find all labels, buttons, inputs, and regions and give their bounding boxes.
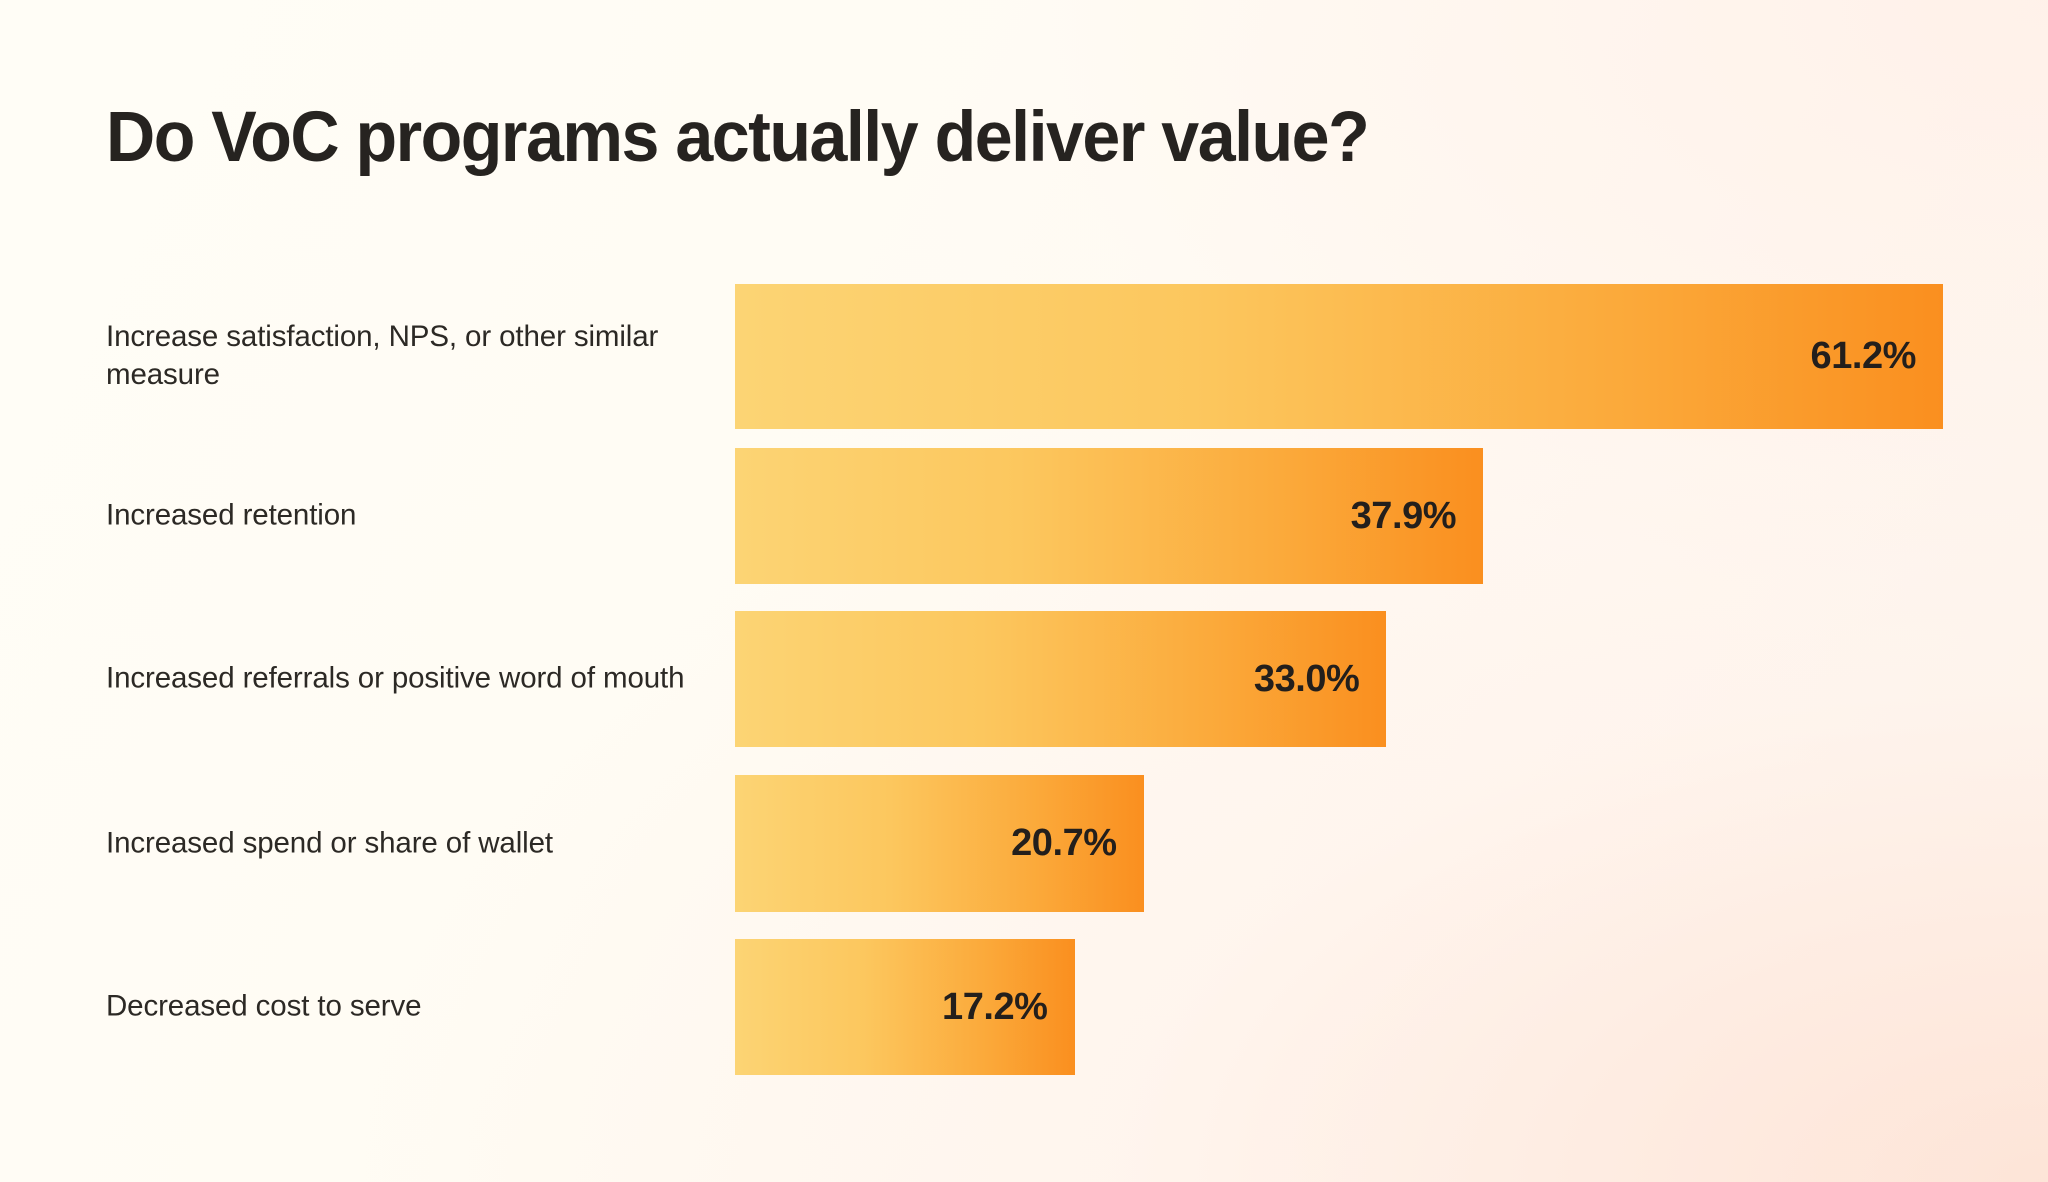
bar-value-label: 33.0% bbox=[1254, 658, 1359, 701]
bar-row: Increased retention37.9% bbox=[0, 448, 2048, 584]
bar-track: 17.2% bbox=[735, 939, 1943, 1075]
bar-value-label: 61.2% bbox=[1811, 335, 1916, 378]
bar-category-label: Decreased cost to serve bbox=[106, 988, 696, 1027]
bar[interactable]: 61.2% bbox=[735, 284, 1943, 429]
bar-track: 33.0% bbox=[735, 611, 1943, 747]
bar-value-label: 20.7% bbox=[1011, 822, 1116, 865]
bar[interactable]: 20.7% bbox=[735, 775, 1144, 912]
bar-track: 20.7% bbox=[735, 775, 1943, 912]
bar[interactable]: 33.0% bbox=[735, 611, 1386, 747]
bar-category-label: Increase satisfaction, NPS, or other sim… bbox=[106, 318, 696, 396]
bar-row: Increased referrals or positive word of … bbox=[0, 611, 2048, 747]
bar-track: 61.2% bbox=[735, 284, 1943, 429]
chart-canvas: Do VoC programs actually deliver value? … bbox=[0, 0, 2048, 1182]
bar-category-label: Increased retention bbox=[106, 497, 696, 536]
bar-row: Decreased cost to serve17.2% bbox=[0, 939, 2048, 1075]
bar-value-label: 37.9% bbox=[1351, 495, 1456, 538]
bar-row: Increased spend or share of wallet20.7% bbox=[0, 775, 2048, 912]
bar[interactable]: 37.9% bbox=[735, 448, 1483, 584]
bar-value-label: 17.2% bbox=[942, 986, 1047, 1029]
bar-category-label: Increased spend or share of wallet bbox=[106, 824, 696, 863]
bar[interactable]: 17.2% bbox=[735, 939, 1075, 1075]
bar-track: 37.9% bbox=[735, 448, 1943, 584]
bar-row: Increase satisfaction, NPS, or other sim… bbox=[0, 284, 2048, 429]
bar-category-label: Increased referrals or positive word of … bbox=[106, 660, 696, 699]
bar-chart-plot-area: Increase satisfaction, NPS, or other sim… bbox=[0, 0, 2048, 1182]
